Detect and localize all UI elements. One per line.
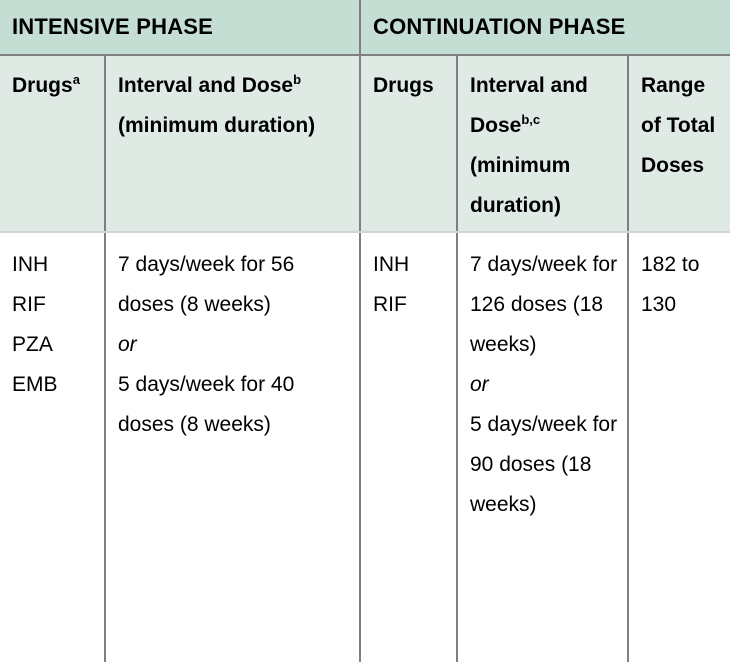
cell-line: 5 days/week for 90 doses (18 weeks) (470, 405, 619, 525)
column-header-interval-intensive: Interval and Doseb (minimum duration) (106, 56, 361, 231)
cell-line-or: or (470, 365, 619, 405)
cell-line: 5 days/week for 40 doses (8 weeks) (118, 365, 351, 445)
column-header-drugs-continuation: Drugs (361, 56, 458, 231)
cell-line: 7 days/week for 126 doses (18 weeks) (470, 245, 619, 365)
table-row: INHRIFPZAEMB 7 days/week for 56 doses (8… (0, 233, 730, 662)
cell-interval-intensive: 7 days/week for 56 doses (8 weeks)or5 da… (106, 233, 361, 662)
cell-interval-continuation: 7 days/week for 126 doses (18 weeks)or5 … (458, 233, 629, 662)
column-header-interval-intensive-label: Interval and Dose (118, 74, 293, 97)
column-header-interval-continuation-label: Interval and Dose (470, 74, 588, 137)
cell-line: INH (373, 245, 448, 285)
cell-line: RIF (373, 285, 448, 325)
column-header-interval-intensive-superscript: b (293, 72, 301, 87)
phase-header-continuation-label: CONTINUATION PHASE (373, 14, 626, 40)
phase-header-continuation: CONTINUATION PHASE (361, 0, 730, 54)
column-header-range-total-doses-label: Range of Total Doses (641, 74, 715, 177)
phase-header-intensive-label: INTENSIVE PHASE (12, 14, 213, 40)
phase-header-intensive: INTENSIVE PHASE (0, 0, 361, 54)
column-header-interval-continuation-superscript: b,c (521, 112, 540, 127)
column-header-drugs-intensive-label: Drugs (12, 74, 73, 97)
column-header-interval-continuation: Interval and Doseb,c (minimum duration) (458, 56, 629, 231)
cell-drugs-intensive: INHRIFPZAEMB (0, 233, 106, 662)
cell-drugs-continuation: INHRIF (361, 233, 458, 662)
cell-range-total-doses: 182 to 130 (629, 233, 730, 662)
regimen-table: INTENSIVE PHASE CONTINUATION PHASE Drugs… (0, 0, 730, 664)
column-header-interval-continuation-sublabel: (minimum duration) (470, 154, 570, 217)
column-header-row: Drugsa Interval and Doseb (minimum durat… (0, 56, 730, 233)
column-header-drugs-intensive-superscript: a (73, 72, 80, 87)
cell-line-or: or (118, 325, 351, 365)
cell-line: INH (12, 245, 96, 285)
phase-band-row: INTENSIVE PHASE CONTINUATION PHASE (0, 0, 730, 56)
column-header-range-total-doses: Range of Total Doses (629, 56, 730, 231)
cell-line: RIF (12, 285, 96, 325)
column-header-drugs-continuation-label: Drugs (373, 74, 434, 97)
cell-line: EMB (12, 365, 96, 405)
column-header-interval-intensive-sublabel: (minimum duration) (118, 114, 315, 137)
cell-line: 182 to 130 (641, 245, 722, 325)
column-header-drugs-intensive: Drugsa (0, 56, 106, 231)
cell-line: 7 days/week for 56 doses (8 weeks) (118, 245, 351, 325)
cell-line: PZA (12, 325, 96, 365)
